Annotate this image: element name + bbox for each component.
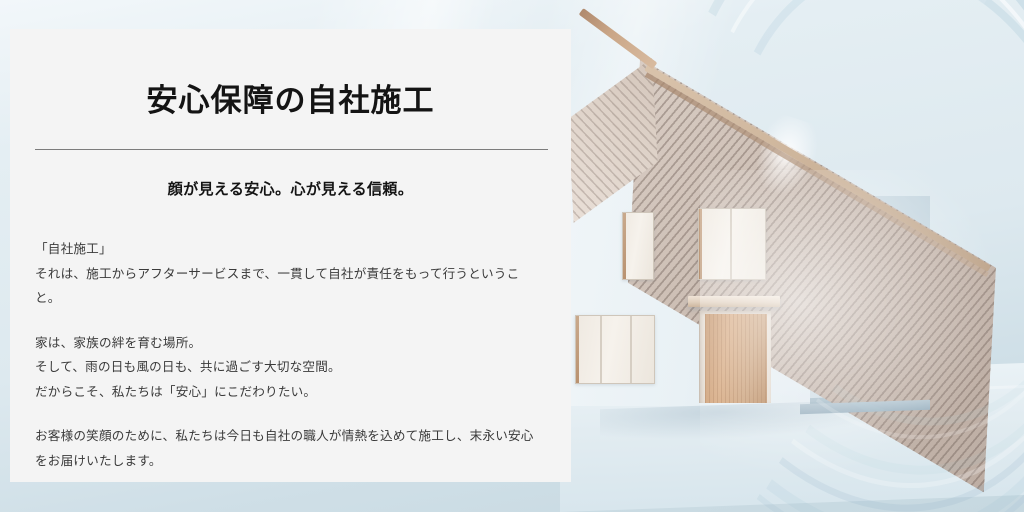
upper-window-narrow-icon bbox=[622, 212, 654, 280]
body-copy: 「自社施工」 それは、施工からアフターサービスまで、一貫して自社が責任をもって行… bbox=[10, 199, 571, 473]
window-mullion bbox=[600, 316, 602, 383]
lower-window-icon bbox=[575, 315, 655, 384]
window-mullion bbox=[730, 209, 732, 279]
paragraph: 「自社施工」 それは、施工からアフターサービスまで、一貫して自社が責任をもって行… bbox=[35, 237, 541, 311]
page-root: 安心保障の自社施工 顔が見える安心。心が見える信頼。 「自社施工」 それは、施工… bbox=[0, 0, 1024, 512]
page-subtitle: 顔が見える安心。心が見える信頼。 bbox=[10, 150, 571, 199]
upper-window-wide-icon bbox=[698, 208, 766, 280]
window-mullion bbox=[630, 316, 632, 383]
page-title: 安心保障の自社施工 bbox=[10, 29, 571, 120]
entry-door-icon bbox=[705, 314, 767, 403]
door-awning bbox=[688, 296, 780, 307]
paragraph: お客様の笑顔のために、私たちは今日も自社の職人が情熱を込めて施工し、末永い安心を… bbox=[35, 424, 541, 473]
roof-fascia-left bbox=[579, 8, 658, 69]
paragraph: 家は、家族の絆を育む場所。 そして、雨の日も風の日も、共に過ごす大切な空間。 だ… bbox=[35, 331, 541, 405]
content-card: 安心保障の自社施工 顔が見える安心。心が見える信頼。 「自社施工」 それは、施工… bbox=[10, 29, 571, 482]
